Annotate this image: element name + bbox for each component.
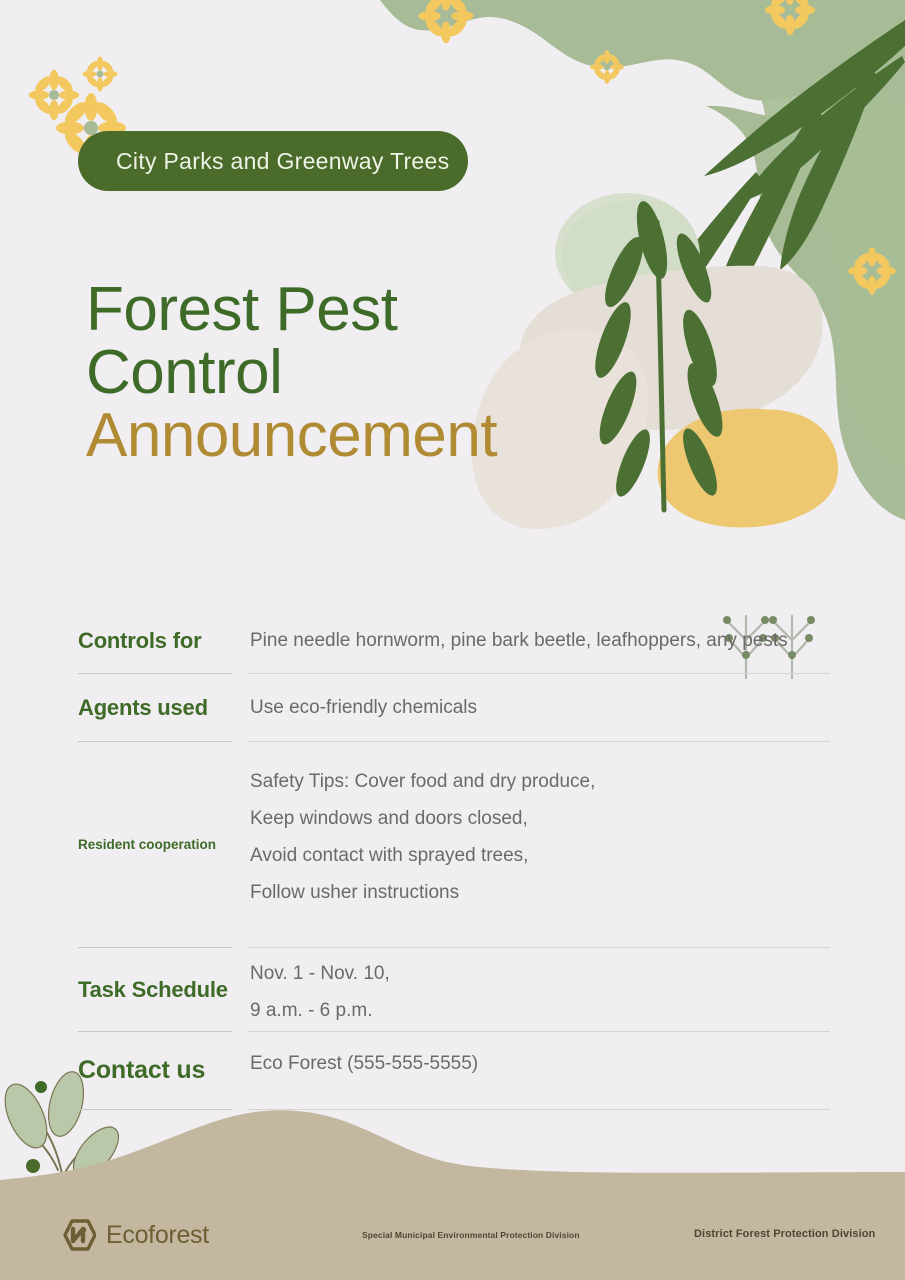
header-badge: City Parks and Greenway Trees xyxy=(78,131,468,191)
row-value-line: Safety Tips: Cover food and dry produce, xyxy=(250,772,830,791)
row-value-line: Keep windows and doors closed, xyxy=(250,809,830,828)
header-badge-label: City Parks and Greenway Trees xyxy=(78,148,449,175)
info-table: Controls for Pine needle hornworm, pine … xyxy=(78,608,830,1110)
table-row-agents-used: Agents used Use eco-friendly chemicals xyxy=(78,674,830,742)
row-label-cell: Agents used xyxy=(78,674,232,742)
row-label-cell: Resident cooperation xyxy=(78,742,232,948)
row-label: Task Schedule xyxy=(78,977,228,1003)
row-value-line: Follow usher instructions xyxy=(250,883,830,902)
row-label-cell: Controls for xyxy=(78,608,232,674)
title-line-3: Announcement xyxy=(86,404,497,467)
row-value-cell: Nov. 1 - Nov. 10, 9 a.m. - 6 p.m. xyxy=(248,948,830,1032)
brand-name: Ecoforest xyxy=(106,1221,209,1250)
cell-gap xyxy=(232,742,248,948)
row-label-cell: Contact us xyxy=(78,1032,232,1110)
cell-gap xyxy=(232,948,248,1032)
row-value-line: Use eco-friendly chemicals xyxy=(250,698,830,717)
row-label: Controls for xyxy=(78,628,201,654)
table-row-task-schedule: Task Schedule Nov. 1 - Nov. 10, 9 a.m. -… xyxy=(78,948,830,1032)
row-value-cell: Safety Tips: Cover food and dry produce,… xyxy=(248,742,830,948)
row-value-line: Pine needle hornworm, pine bark beetle, … xyxy=(250,631,830,650)
row-label-cell: Task Schedule xyxy=(78,948,232,1032)
row-value-line: Avoid contact with sprayed trees, xyxy=(250,846,830,865)
row-value-line: Nov. 1 - Nov. 10, xyxy=(250,964,830,983)
row-value-cell: Use eco-friendly chemicals xyxy=(248,674,830,742)
footer-center-text: Special Municipal Environmental Protecti… xyxy=(362,1230,580,1240)
cell-gap xyxy=(232,674,248,742)
row-label: Agents used xyxy=(78,695,208,721)
row-label: Resident cooperation xyxy=(78,837,216,852)
cell-gap xyxy=(232,1032,248,1110)
poster-canvas: City Parks and Greenway Trees Forest Pes… xyxy=(0,0,905,1280)
row-label: Contact us xyxy=(78,1056,205,1085)
brand-logo: Ecoforest xyxy=(62,1219,209,1251)
row-value-line: 9 a.m. - 6 p.m. xyxy=(250,1001,830,1020)
row-value-cell: Eco Forest (555-555-5555) xyxy=(248,1032,830,1110)
row-value-cell: Pine needle hornworm, pine bark beetle, … xyxy=(248,608,830,674)
page-title: Forest Pest Control Announcement xyxy=(86,278,497,468)
row-value-line: Eco Forest (555-555-5555) xyxy=(250,1054,830,1073)
title-line-1: Forest Pest xyxy=(86,278,497,341)
cell-gap xyxy=(232,608,248,674)
table-row-contact-us: Contact us Eco Forest (555-555-5555) xyxy=(78,1032,830,1110)
table-row-resident-cooperation: Resident cooperation Safety Tips: Cover … xyxy=(78,742,830,948)
footer-right-text: District Forest Protection Division xyxy=(694,1228,875,1240)
table-row-controls-for: Controls for Pine needle hornworm, pine … xyxy=(78,608,830,674)
title-line-2: Control xyxy=(86,341,497,404)
hexagon-arrow-logo-icon xyxy=(62,1219,96,1251)
